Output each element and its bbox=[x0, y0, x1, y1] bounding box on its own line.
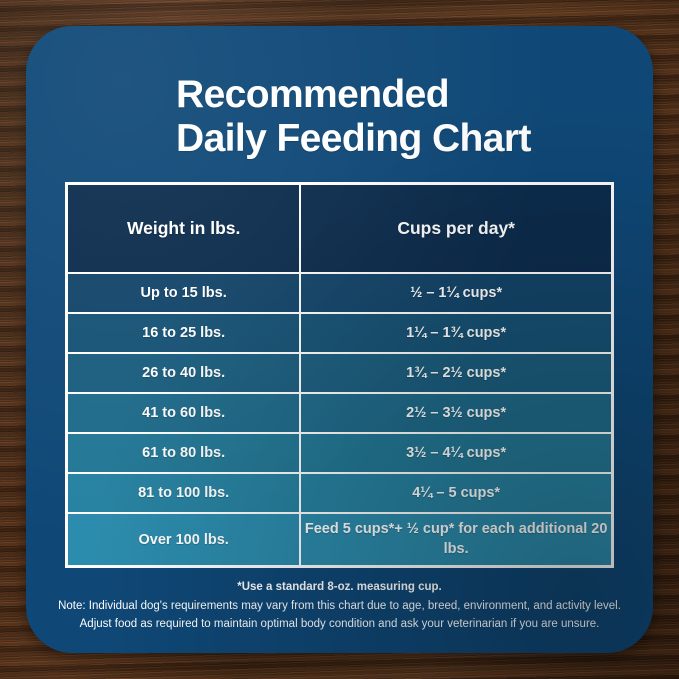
table-row: Up to 15 lbs. ½ – 1¼ cups* bbox=[67, 273, 612, 313]
footnote-note-line-2: Adjust food as required to maintain opti… bbox=[52, 615, 627, 634]
title-line-2: Daily Feeding Chart bbox=[176, 117, 653, 161]
cell-cups: ½ – 1¼ cups* bbox=[300, 273, 612, 313]
page-title: Recommended Daily Feeding Chart bbox=[26, 26, 653, 162]
table-row: 16 to 25 lbs. 1¼ – 1¾ cups* bbox=[67, 313, 612, 353]
table-row: Over 100 lbs. Feed 5 cups*+ ½ cup* for e… bbox=[67, 513, 612, 566]
column-header-cups: Cups per day* bbox=[300, 184, 612, 273]
footnote-measuring-cup: *Use a standard 8-oz. measuring cup. bbox=[52, 578, 627, 597]
cell-cups: 1¼ – 1¾ cups* bbox=[300, 313, 612, 353]
table-header: Weight in lbs. Cups per day* bbox=[67, 184, 612, 273]
feeding-table: Weight in lbs. Cups per day* Up to 15 lb… bbox=[65, 182, 614, 568]
footnotes: *Use a standard 8-oz. measuring cup. Not… bbox=[26, 578, 653, 634]
wood-background: Recommended Daily Feeding Chart Weight i… bbox=[0, 0, 679, 679]
table-row: 81 to 100 lbs. 4¼ – 5 cups* bbox=[67, 473, 612, 513]
cell-cups: 2½ – 3½ cups* bbox=[300, 393, 612, 433]
cell-weight: 26 to 40 lbs. bbox=[67, 353, 300, 393]
footnote-note-line-1: Note: Individual dog's requirements may … bbox=[52, 597, 627, 616]
cell-weight: Over 100 lbs. bbox=[67, 513, 300, 566]
table-body: Up to 15 lbs. ½ – 1¼ cups* 16 to 25 lbs.… bbox=[67, 273, 612, 566]
cell-cups: 1¾ – 2½ cups* bbox=[300, 353, 612, 393]
table-row: 41 to 60 lbs. 2½ – 3½ cups* bbox=[67, 393, 612, 433]
table-row: 61 to 80 lbs. 3½ – 4¼ cups* bbox=[67, 433, 612, 473]
cell-cups: 3½ – 4¼ cups* bbox=[300, 433, 612, 473]
cell-weight: 61 to 80 lbs. bbox=[67, 433, 300, 473]
cell-weight: Up to 15 lbs. bbox=[67, 273, 300, 313]
cell-cups: Feed 5 cups*+ ½ cup* for each additional… bbox=[300, 513, 612, 566]
cell-weight: 81 to 100 lbs. bbox=[67, 473, 300, 513]
table-row: 26 to 40 lbs. 1¾ – 2½ cups* bbox=[67, 353, 612, 393]
column-header-weight: Weight in lbs. bbox=[67, 184, 300, 273]
cell-cups: 4¼ – 5 cups* bbox=[300, 473, 612, 513]
table-header-row: Weight in lbs. Cups per day* bbox=[67, 184, 612, 273]
title-line-1: Recommended bbox=[176, 73, 653, 117]
cell-weight: 41 to 60 lbs. bbox=[67, 393, 300, 433]
cell-weight: 16 to 25 lbs. bbox=[67, 313, 300, 353]
feeding-chart-card: Recommended Daily Feeding Chart Weight i… bbox=[26, 26, 653, 653]
